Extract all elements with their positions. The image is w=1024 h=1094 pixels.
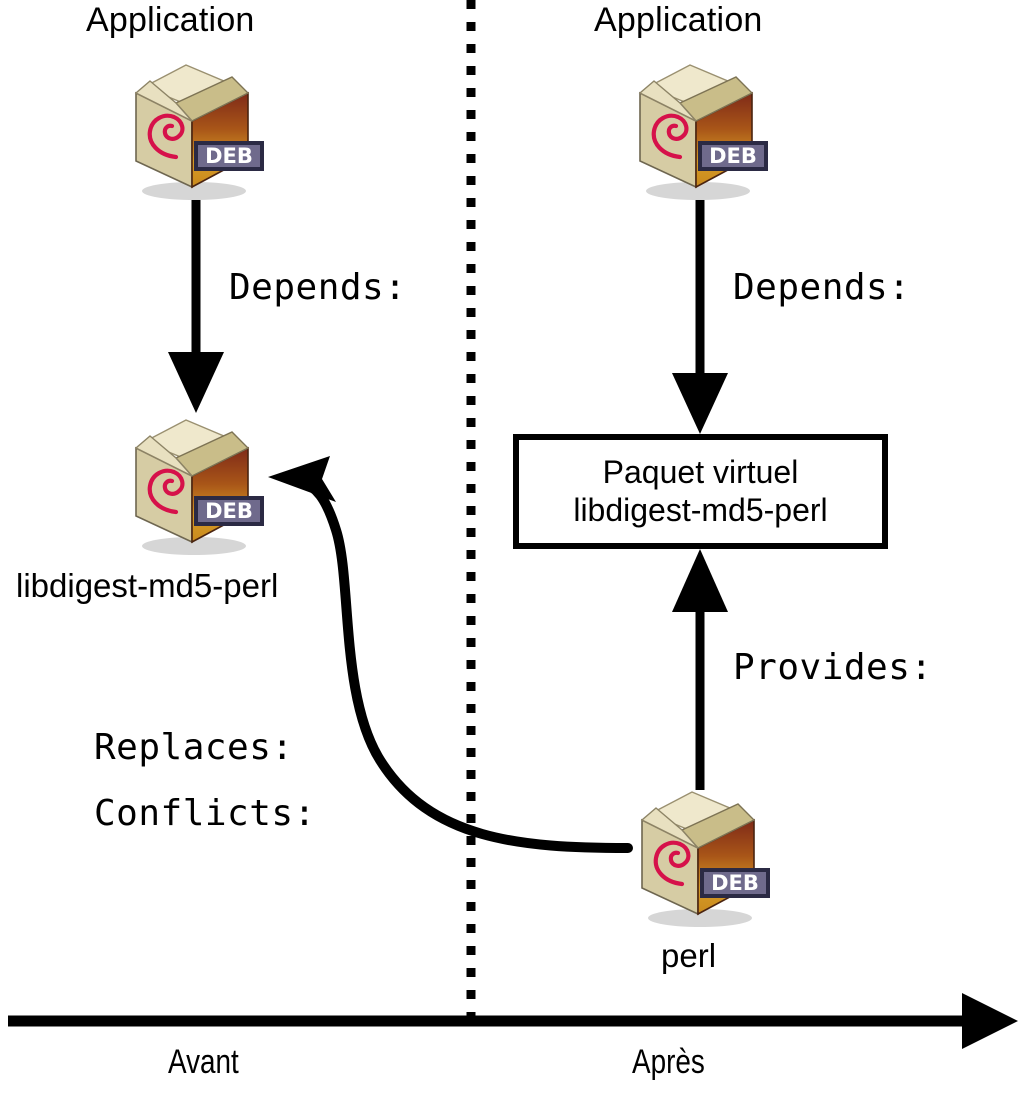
provides-label: Provides: bbox=[733, 648, 933, 688]
libdigest-md5-perl-package-icon: DEB bbox=[114, 400, 274, 560]
arrow-provides bbox=[672, 549, 728, 790]
virtual-package-box: Paquet virtuel libdigest-md5-perl bbox=[513, 434, 888, 549]
svg-text:DEB: DEB bbox=[205, 499, 253, 523]
right-application-package-icon: DEB bbox=[618, 45, 778, 205]
svg-text:DEB: DEB bbox=[709, 144, 757, 168]
virtual-package-name: libdigest-md5-perl bbox=[573, 492, 827, 530]
arrow-depends-left bbox=[168, 200, 224, 413]
timeline-before-label: Avant bbox=[168, 1044, 239, 1081]
left-depends-label: Depends: bbox=[229, 268, 406, 308]
perl-package-caption: perl bbox=[661, 938, 716, 974]
right-depends-label: Depends: bbox=[733, 268, 910, 308]
deb-badge: DEB bbox=[700, 868, 770, 898]
arrow-depends-right bbox=[672, 200, 728, 434]
deb-badge: DEB bbox=[194, 141, 264, 171]
debian-virtual-package-diagram: Application DEB Depends: bbox=[0, 0, 1024, 1094]
libdigest-md5-perl-caption: libdigest-md5-perl bbox=[16, 568, 278, 604]
replaces-label: Replaces: bbox=[94, 728, 294, 768]
conflicts-label: Conflicts: bbox=[94, 794, 316, 834]
perl-package-icon: DEB bbox=[620, 772, 780, 932]
svg-text:DEB: DEB bbox=[711, 871, 759, 895]
svg-text:DEB: DEB bbox=[205, 144, 253, 168]
right-application-label: Application bbox=[594, 2, 763, 39]
deb-badge: DEB bbox=[194, 496, 264, 526]
timeline-axis bbox=[8, 993, 1018, 1049]
left-application-label: Application bbox=[86, 2, 255, 39]
timeline-after-label: Après bbox=[632, 1044, 705, 1081]
virtual-package-title: Paquet virtuel bbox=[603, 454, 799, 492]
deb-badge: DEB bbox=[698, 141, 768, 171]
left-application-package-icon: DEB bbox=[114, 45, 274, 205]
